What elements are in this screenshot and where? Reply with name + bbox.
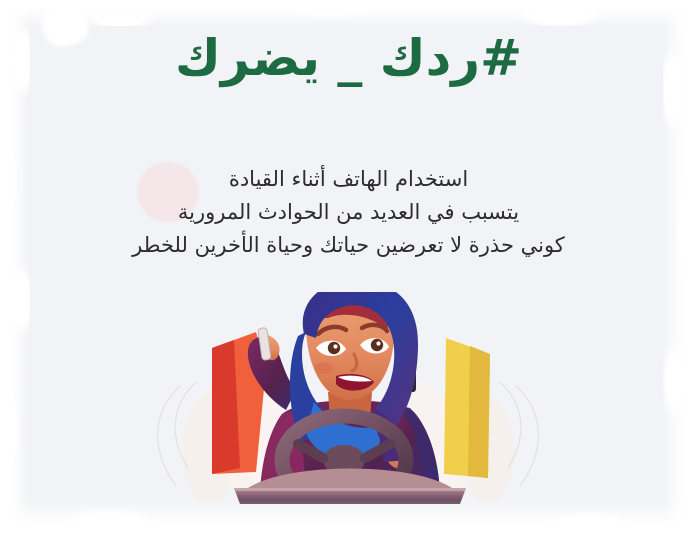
body-line-3: كوني حذرة لا تعرضين حياتك وحياة الأخرين … <box>0 229 697 262</box>
body-line-2: يتسبب في العديد من الحوادث المرورية <box>0 196 697 229</box>
driver-illustration <box>178 292 522 504</box>
page-title: #ردك _ يضرك <box>0 28 697 88</box>
awareness-poster: #ردك _ يضرك استخدام الهاتف أثناء القيادة… <box>0 0 697 540</box>
paper-blob-top-left <box>42 6 88 46</box>
body-line-1: استخدام الهاتف أثناء القيادة <box>0 163 697 196</box>
body-message: استخدام الهاتف أثناء القيادة يتسبب في ال… <box>0 163 697 262</box>
blush <box>315 362 333 374</box>
